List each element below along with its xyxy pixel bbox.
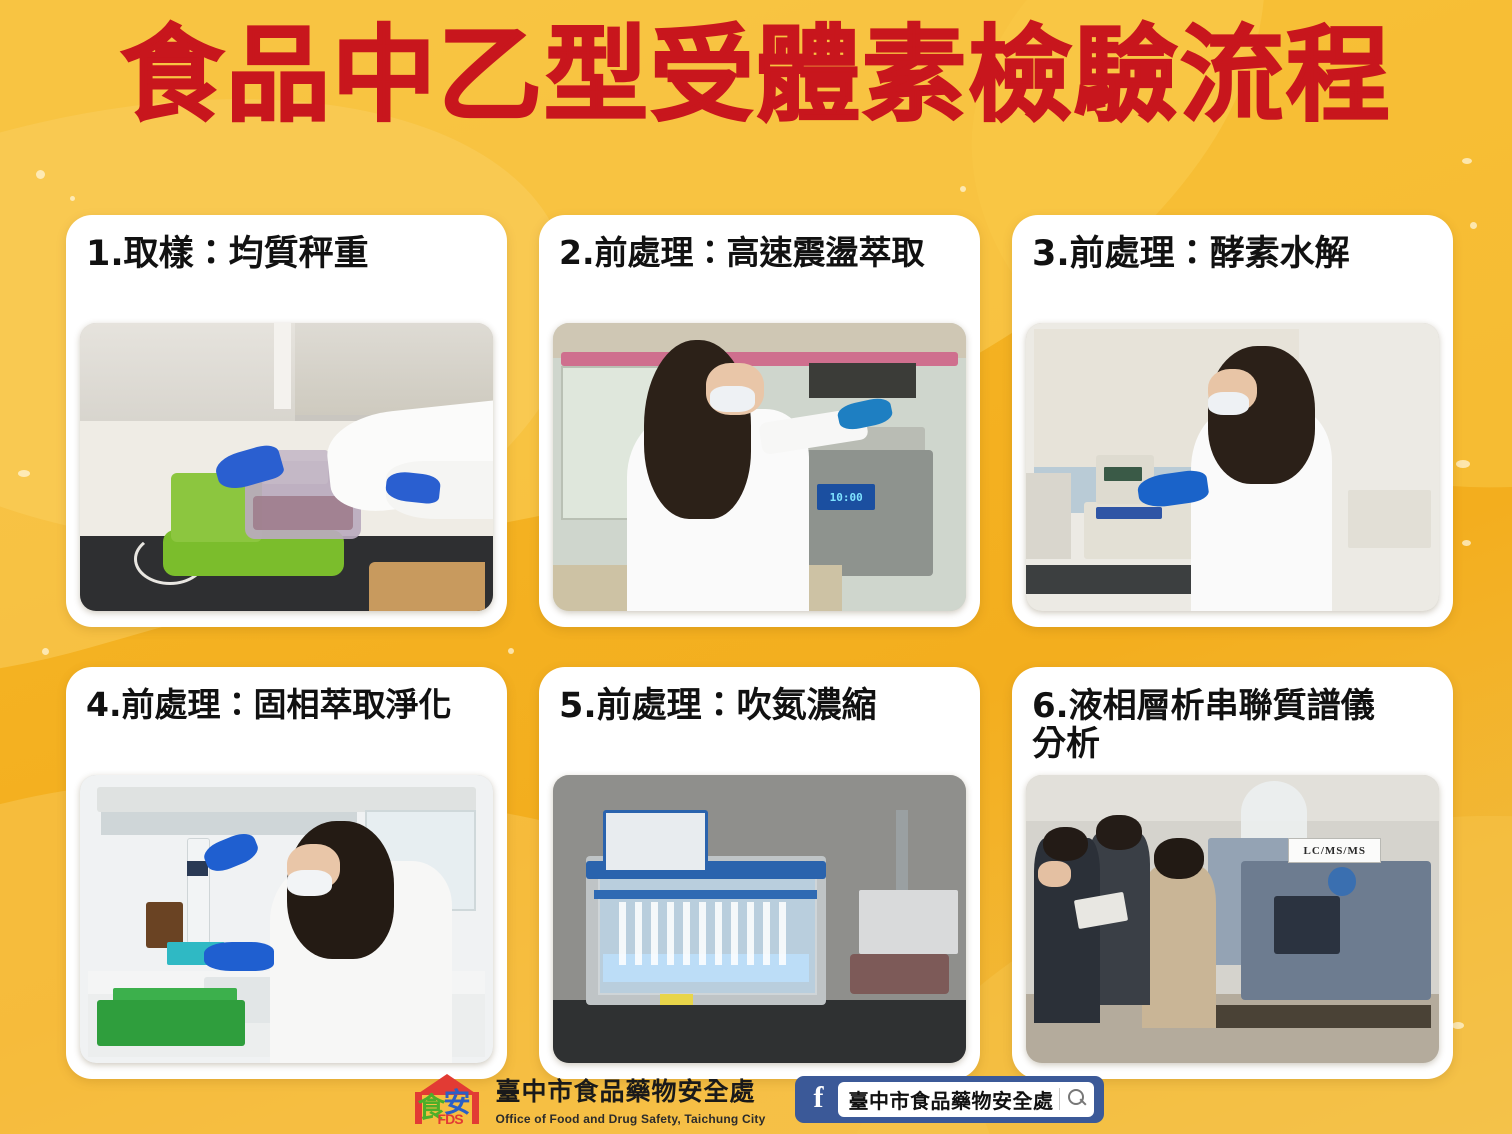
step-title-6-line1: 6.液相層析串聯質譜儀: [1032, 686, 1375, 726]
step-card-3[interactable]: 3.前處理：酵素水解: [1012, 215, 1453, 627]
sparkle-dot: [1462, 158, 1472, 164]
step-photo-5: [553, 775, 966, 1063]
logo-abbr: FDS: [438, 1111, 463, 1127]
facebook-search-value: 臺中市食品藥物安全處: [848, 1085, 1053, 1114]
step-title-2: 2.前處理：高速震盪萃取: [559, 235, 966, 272]
step-title-6-line2: 分析: [1032, 724, 1100, 764]
poster-root: 食品中乙型受體素檢驗流程 1.取樣：均質秤重 2.前處理：高速震盪萃取: [0, 0, 1512, 1134]
step-photo-4: [80, 775, 493, 1063]
sparkle-dot: [1470, 222, 1477, 229]
poster-title-wrap: 食品中乙型受體素檢驗流程: [0, 14, 1512, 137]
shaker-timer-display: 10:00: [817, 484, 875, 510]
steps-grid: 1.取樣：均質秤重 2.前處理：高速震盪萃取 10:00: [66, 215, 1454, 1079]
step-card-6[interactable]: 6.液相層析串聯質譜儀 分析 LC/MS/MS: [1012, 667, 1453, 1079]
step-card-4[interactable]: 4.前處理：固相萃取淨化: [66, 667, 507, 1079]
footer: 食 安 FDS 臺中市食品藥物安全處 Office of Food and Dr…: [0, 1072, 1512, 1126]
step-photo-1: [80, 323, 493, 611]
step-card-2[interactable]: 2.前處理：高速震盪萃取 10:00: [539, 215, 980, 627]
sparkle-dot: [1456, 460, 1470, 468]
facebook-icon: f: [805, 1083, 831, 1116]
sparkle-dot: [42, 648, 49, 655]
organization-brand: 食 安 FDS 臺中市食品藥物安全處 Office of Food and Dr…: [408, 1072, 766, 1126]
sparkle-dot: [960, 186, 966, 192]
step-title-6: 6.液相層析串聯質譜儀 分析: [1032, 687, 1439, 763]
organization-name-en: Office of Food and Drug Safety, Taichung…: [496, 1112, 766, 1126]
sparkle-dot: [70, 196, 75, 201]
step-title-4: 4.前處理：固相萃取淨化: [86, 687, 493, 724]
organization-name-zh: 臺中市食品藥物安全處: [496, 1072, 766, 1108]
page-title: 食品中乙型受體素檢驗流程: [120, 14, 1392, 137]
step-card-5[interactable]: 5.前處理：吹氮濃縮: [539, 667, 980, 1079]
food-safety-logo-icon: 食 安 FDS: [408, 1072, 486, 1126]
organization-name-block: 臺中市食品藥物安全處 Office of Food and Drug Safet…: [496, 1072, 766, 1126]
sparkle-dot: [36, 170, 45, 179]
sparkle-dot: [1462, 540, 1471, 546]
divider: [1059, 1088, 1060, 1110]
step-photo-6: LC/MS/MS: [1026, 775, 1439, 1063]
step-title-3: 3.前處理：酵素水解: [1032, 235, 1439, 274]
facebook-search-field[interactable]: 臺中市食品藥物安全處: [838, 1082, 1094, 1117]
step-photo-2: 10:00: [553, 323, 966, 611]
instrument-label: LC/MS/MS: [1288, 838, 1381, 863]
step-title-1: 1.取樣：均質秤重: [86, 235, 493, 274]
sparkle-dot: [18, 470, 30, 477]
step-title-5: 5.前處理：吹氮濃縮: [559, 687, 966, 726]
search-icon[interactable]: [1066, 1088, 1088, 1110]
facebook-badge[interactable]: f 臺中市食品藥物安全處: [795, 1076, 1104, 1123]
step-card-1[interactable]: 1.取樣：均質秤重: [66, 215, 507, 627]
step-photo-3: [1026, 323, 1439, 611]
